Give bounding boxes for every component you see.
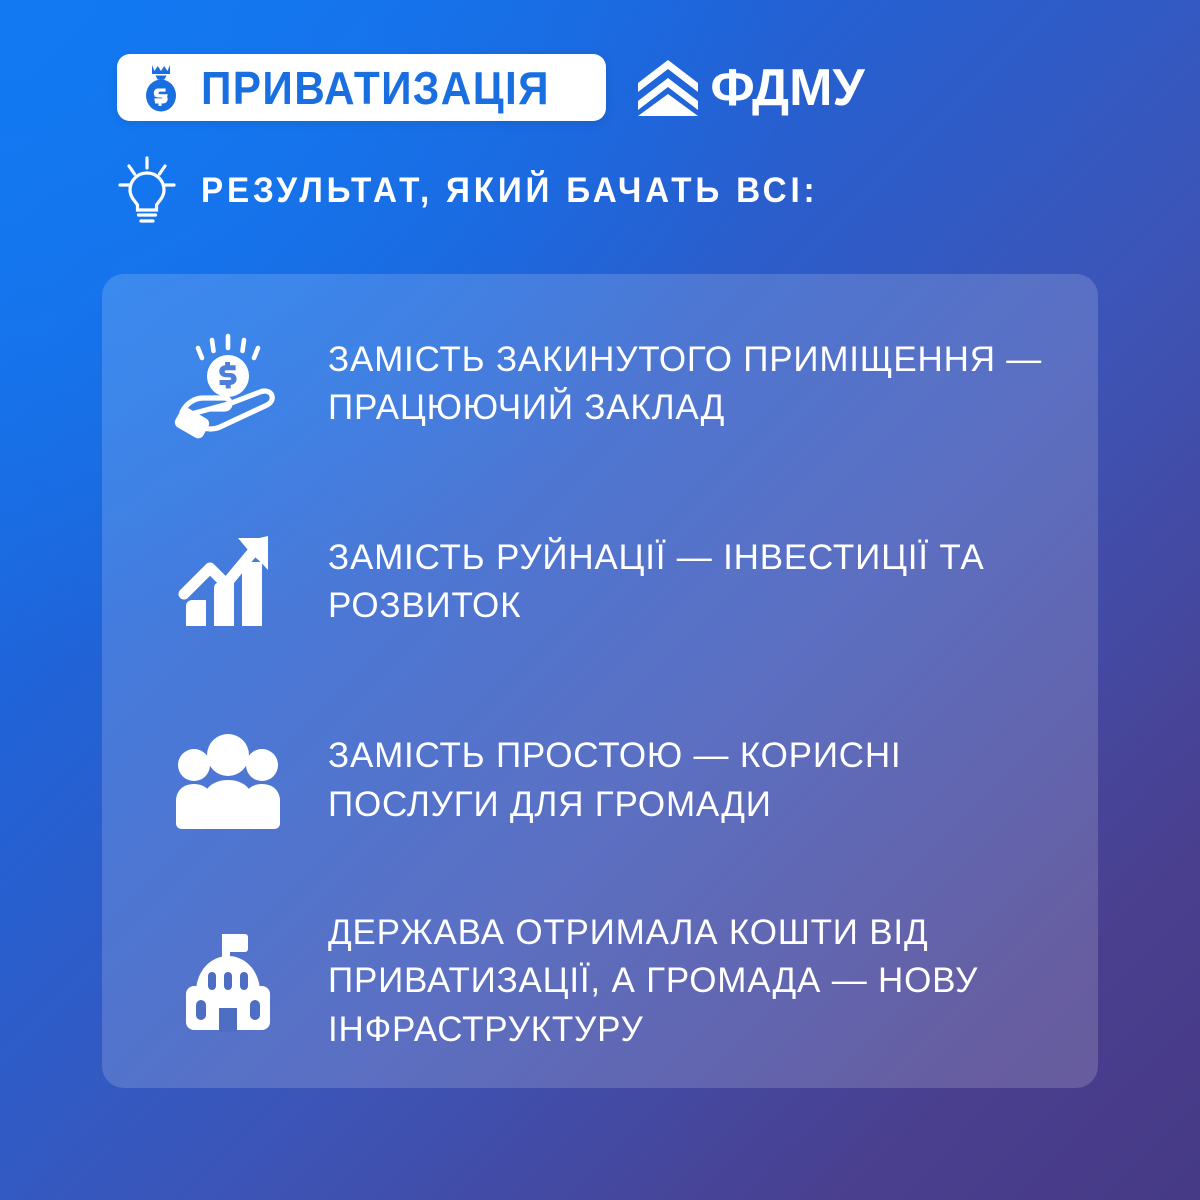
list-item-label: ЗАМІСТЬ РУЙНАЦІЇ — ІНВЕСТИЦІЇ ТА РОЗВИТО… — [328, 534, 1068, 631]
lightbulb-icon — [117, 155, 177, 227]
list-item: ЗАМІСТЬ ЗАКИНУТОГО ПРИМІЩЕННЯ — ПРАЦЮЮЧИ… — [170, 314, 1068, 454]
list-item: ЗАМІСТЬ РУЙНАЦІЇ — ІНВЕСТИЦІЇ ТА РОЗВИТО… — [170, 512, 1068, 652]
list-item: ДЕРЖАВА ОТРИМАЛА КОШТИ ВІД ПРИВАТИЗАЦІЇ,… — [170, 909, 1068, 1054]
benefits-card: ЗАМІСТЬ ЗАКИНУТОГО ПРИМІЩЕННЯ — ПРАЦЮЮЧИ… — [102, 274, 1098, 1088]
list-item-label: ДЕРЖАВА ОТРИМАЛА КОШТИ ВІД ПРИВАТИЗАЦІЇ,… — [328, 909, 1068, 1054]
header: ПРИВАТИЗАЦІЯ ФДМУ — [117, 54, 865, 121]
list-item: ЗАМІСТЬ ПРОСТОЮ — КОРИСНІ ПОСЛУГИ ДЛЯ ГР… — [170, 711, 1068, 851]
benefits-list: ЗАМІСТЬ ЗАКИНУТОГО ПРИМІЩЕННЯ — ПРАЦЮЮЧИ… — [102, 274, 1098, 1088]
fdmu-abbr: ФДМУ — [710, 62, 864, 114]
money-bag-icon — [139, 62, 183, 114]
fdmu-logo: ФДМУ — [636, 58, 864, 118]
people-group-icon — [170, 723, 286, 839]
government-building-icon — [170, 924, 286, 1040]
list-item-label: ЗАМІСТЬ ЗАКИНУТОГО ПРИМІЩЕННЯ — ПРАЦЮЮЧИ… — [328, 336, 1068, 433]
subtitle-text: РЕЗУЛЬТАТ, ЯКИЙ БАЧАТЬ ВСІ: — [201, 171, 818, 211]
brand-pill: ПРИВАТИЗАЦІЯ — [117, 54, 606, 121]
subtitle-row: РЕЗУЛЬТАТ, ЯКИЙ БАЧАТЬ ВСІ: — [117, 155, 851, 227]
growth-chart-arrow-icon — [170, 524, 286, 640]
fdmu-chevron-house-icon — [636, 58, 700, 118]
brand-title: ПРИВАТИЗАЦІЯ — [201, 65, 550, 111]
list-item-label: ЗАМІСТЬ ПРОСТОЮ — КОРИСНІ ПОСЛУГИ ДЛЯ ГР… — [328, 732, 1068, 829]
hand-holding-coin-icon — [170, 326, 286, 442]
